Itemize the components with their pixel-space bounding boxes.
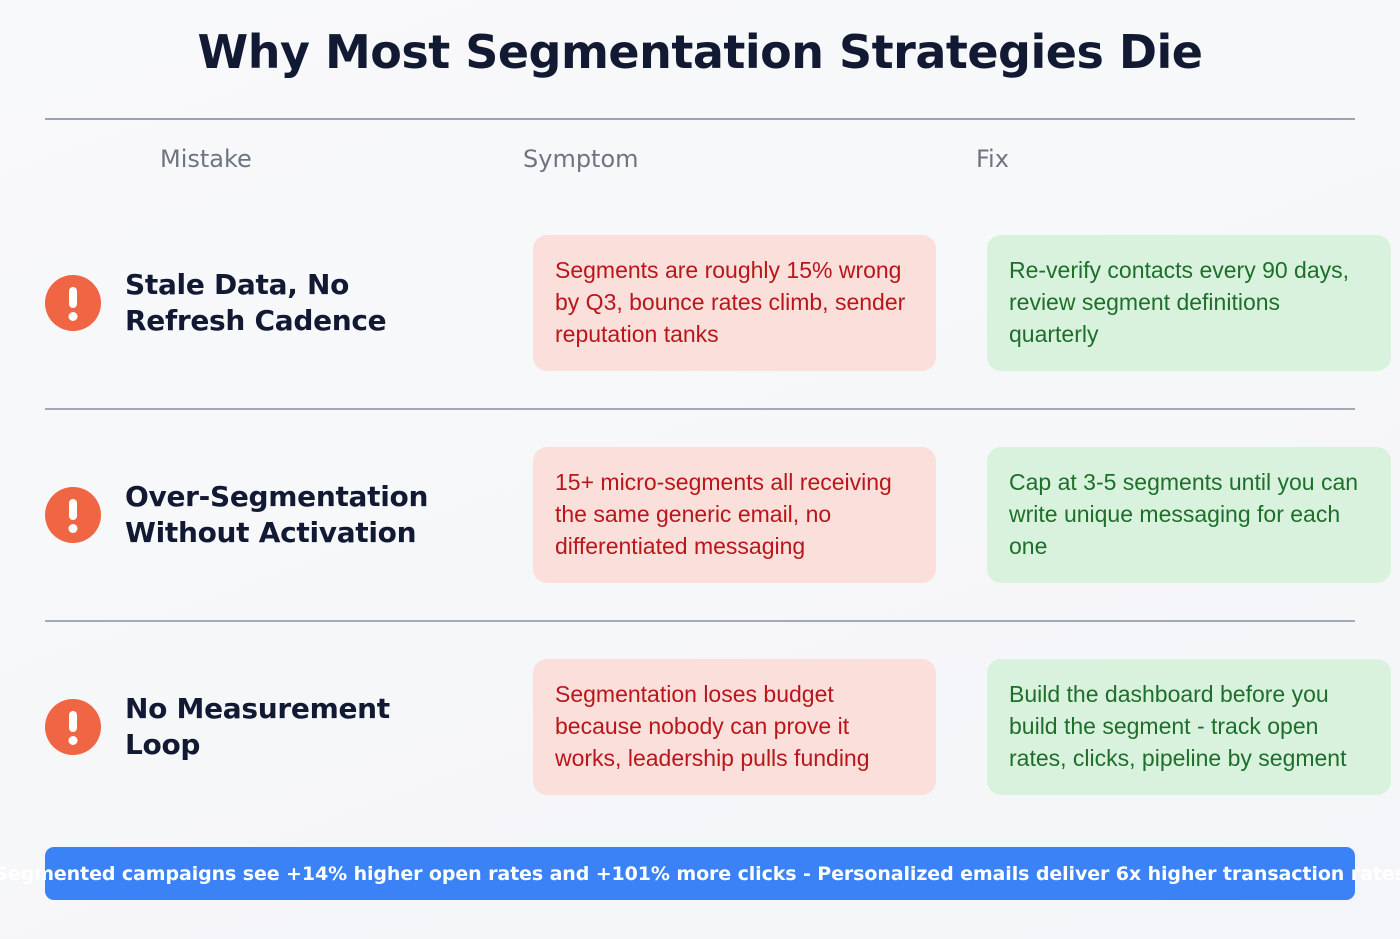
- table-row: No Measurement Loop Segmentation loses b…: [45, 622, 1355, 832]
- table-header-row: Mistake Symptom Fix: [45, 120, 1355, 198]
- table-row: Over-Segmentation Without Activation 15+…: [45, 410, 1355, 620]
- mistake-cell: Stale Data, No Refresh Cadence: [45, 267, 533, 339]
- column-header-symptom: Symptom: [523, 145, 639, 173]
- fix-pill: Cap at 3-5 segments until you can write …: [987, 447, 1391, 582]
- column-header-mistake: Mistake: [45, 145, 252, 173]
- column-header-symptom-cell: Symptom: [523, 145, 951, 173]
- mistake-label: Stale Data, No Refresh Cadence: [125, 267, 470, 339]
- infographic-page: Why Most Segmentation Strategies Die Mis…: [0, 0, 1400, 939]
- symptom-pill: Segmentation loses budget because nobody…: [533, 659, 936, 794]
- column-header-mistake-cell: Mistake: [45, 145, 523, 173]
- fix-pill: Build the dashboard before you build the…: [987, 659, 1391, 794]
- table-row: Stale Data, No Refresh Cadence Segments …: [45, 198, 1355, 408]
- column-header-fix: Fix: [951, 145, 1009, 173]
- column-header-fix-cell: Fix: [951, 145, 1355, 173]
- alert-exclamation-icon: [45, 487, 101, 543]
- page-title: Why Most Segmentation Strategies Die: [0, 0, 1400, 79]
- mistake-label: Over-Segmentation Without Activation: [125, 479, 470, 551]
- symptom-pill: 15+ micro-segments all receiving the sam…: [533, 447, 936, 582]
- stat-banner-text: Segmented campaigns see +14% higher open…: [0, 863, 1400, 885]
- fix-cell: Cap at 3-5 segments until you can write …: [961, 447, 1391, 582]
- fix-cell: Re-verify contacts every 90 days, review…: [961, 235, 1391, 370]
- alert-exclamation-icon: [45, 699, 101, 755]
- mistake-cell: No Measurement Loop: [45, 691, 533, 763]
- stat-banner: Segmented campaigns see +14% higher open…: [45, 847, 1355, 900]
- symptom-cell: Segments are roughly 15% wrong by Q3, bo…: [533, 235, 961, 370]
- symptom-cell: 15+ micro-segments all receiving the sam…: [533, 447, 961, 582]
- symptom-pill: Segments are roughly 15% wrong by Q3, bo…: [533, 235, 936, 370]
- fix-pill: Re-verify contacts every 90 days, review…: [987, 235, 1391, 370]
- mistake-cell: Over-Segmentation Without Activation: [45, 479, 533, 551]
- comparison-table: Mistake Symptom Fix Stale Data, No Refre…: [45, 118, 1355, 832]
- fix-cell: Build the dashboard before you build the…: [961, 659, 1391, 794]
- alert-exclamation-icon: [45, 275, 101, 331]
- symptom-cell: Segmentation loses budget because nobody…: [533, 659, 961, 794]
- mistake-label: No Measurement Loop: [125, 691, 470, 763]
